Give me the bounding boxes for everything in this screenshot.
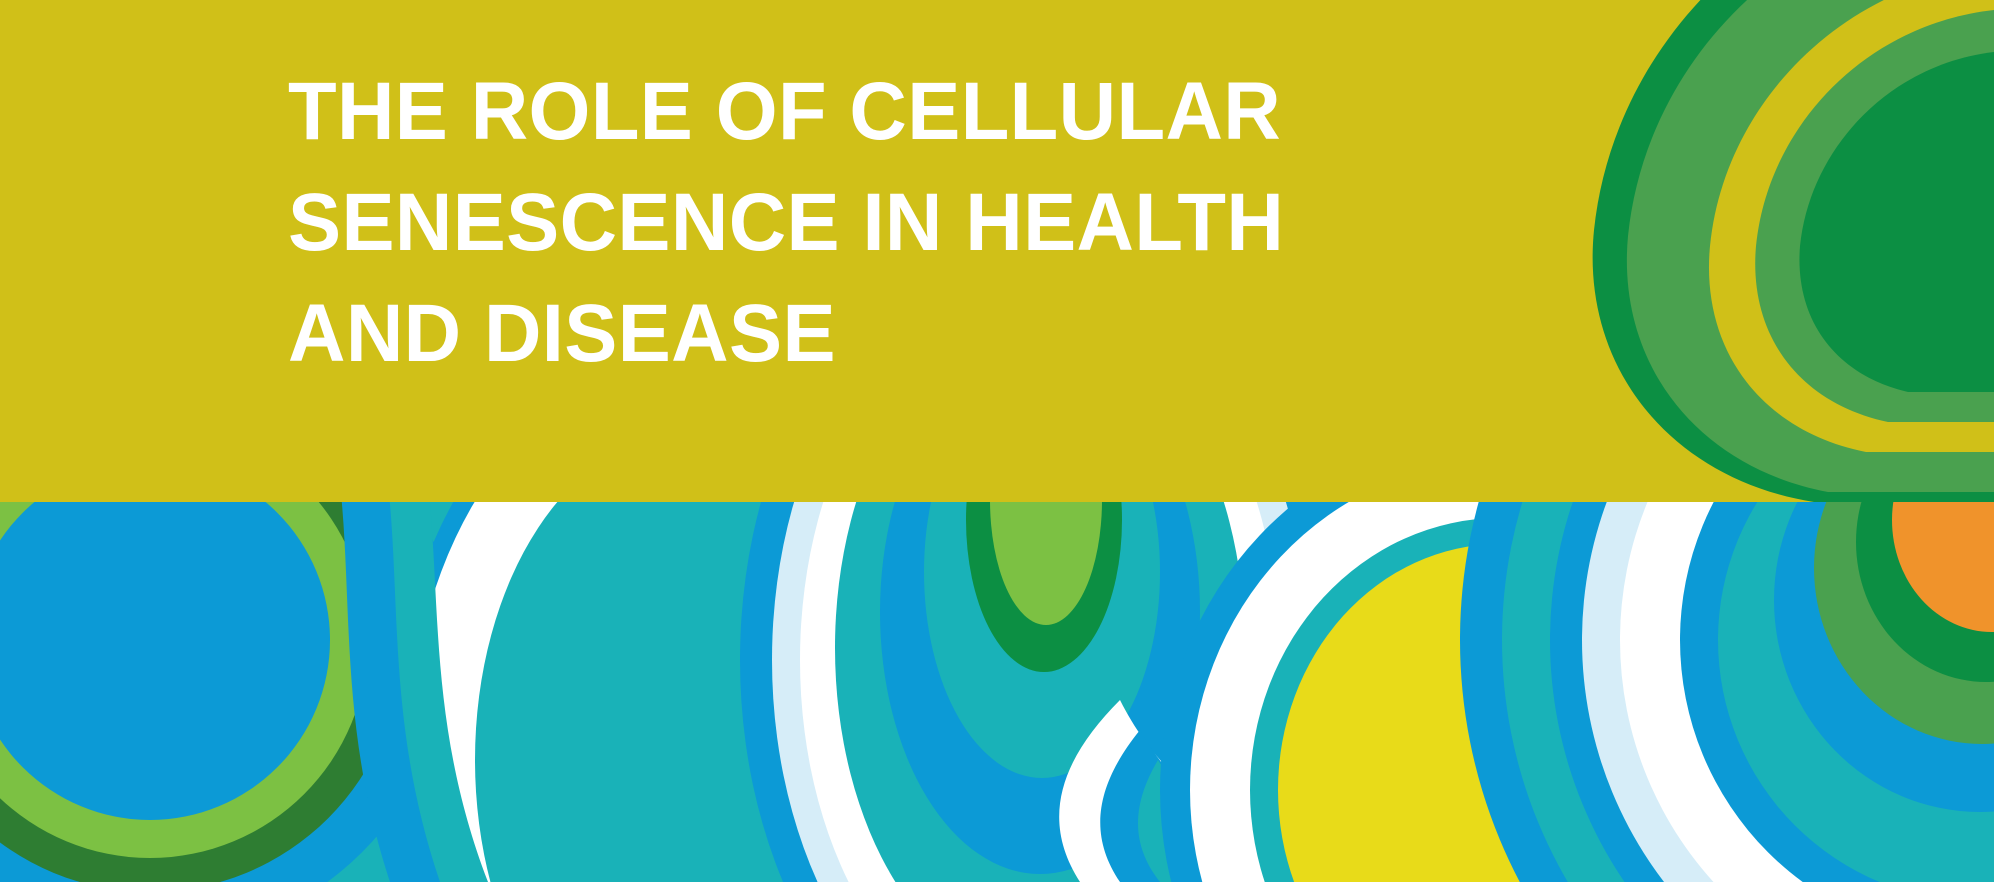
page-title: THE ROLE OF CELLULAR SENESCENCE IN HEALT… xyxy=(288,56,1708,389)
title-line-2: SENESCENCE IN HEALTH xyxy=(288,167,1665,278)
title-line-3: AND DISEASE xyxy=(288,278,1665,389)
title-line-1: THE ROLE OF CELLULAR xyxy=(288,56,1665,167)
article-header-banner: THE ROLE OF CELLULAR SENESCENCE IN HEALT… xyxy=(0,0,1994,882)
